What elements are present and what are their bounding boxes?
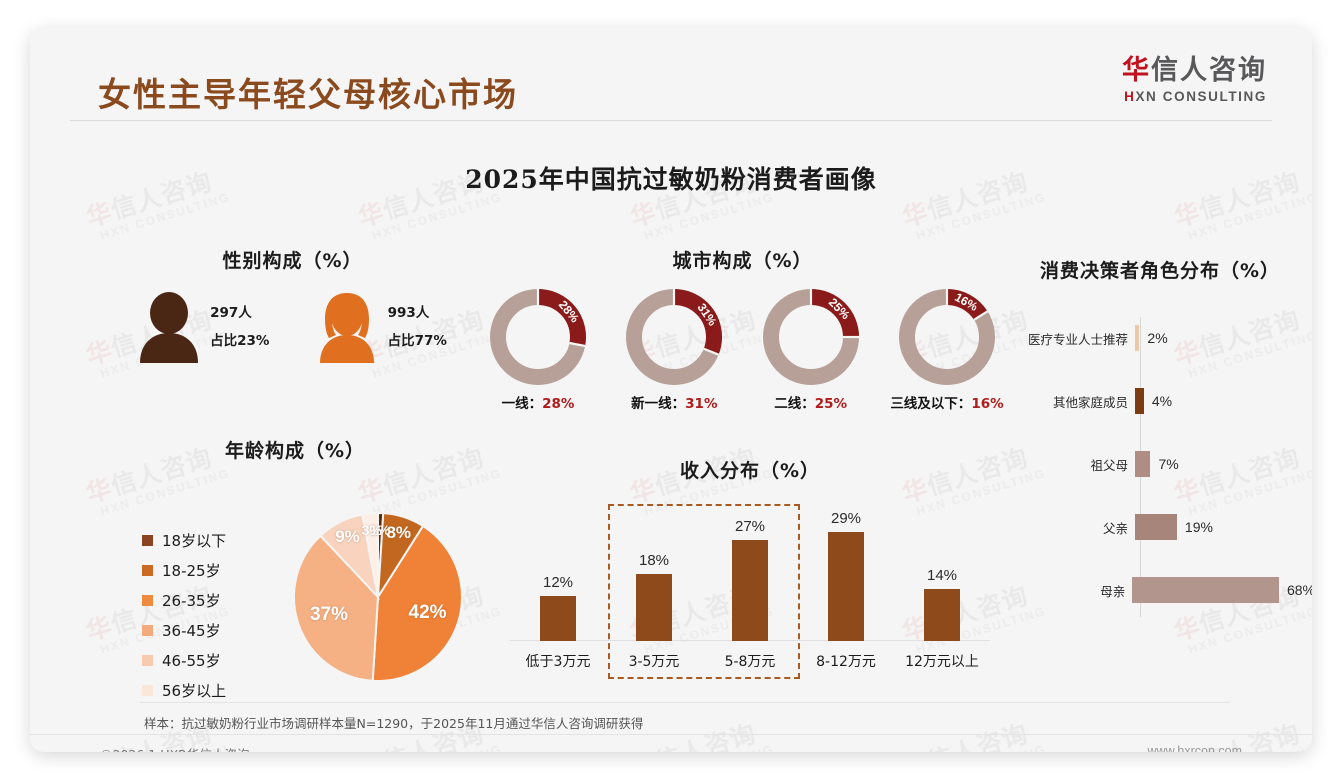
- age-legend-swatch: [142, 655, 153, 666]
- age-pie-value-label: 37%: [310, 604, 348, 626]
- copyright-text: ©2026.1 HXR华信人咨询: [100, 744, 249, 752]
- watermark-logo: 华信人咨询HXN CONSULTING: [625, 710, 776, 752]
- age-legend-label: 18-25岁: [162, 560, 221, 581]
- gender-share: 占比77%: [388, 327, 447, 355]
- city-donut-item: 25%二线：25%: [751, 289, 871, 412]
- age-legend-swatch: [142, 565, 153, 576]
- sample-note: 样本：抗过敏奶粉行业市场调研样本量N=1290，于2025年11月通过华信人咨询…: [144, 713, 643, 732]
- age-chart-body: 18岁以下18-25岁26-35岁36-45岁46-55岁56岁以上 1%8%4…: [120, 473, 470, 688]
- age-legend-item: 46-55岁: [142, 645, 226, 675]
- age-legend-label: 56岁以上: [162, 680, 226, 701]
- income-bar: [732, 540, 768, 641]
- company-logo: 华信人咨询 HXN CONSULTING: [1122, 56, 1267, 104]
- income-bar: [636, 574, 672, 642]
- income-category-label: 3-5万元: [608, 651, 700, 671]
- city-donut-item: 16%三线及以下：16%: [887, 289, 1007, 412]
- gender-items: 297人占比23%993人占比77%: [115, 291, 470, 363]
- dm-bar: [1135, 514, 1177, 540]
- age-legend: 18岁以下18-25岁26-35岁36-45岁46-55岁56岁以上: [142, 525, 226, 705]
- income-column: 14%: [896, 567, 988, 642]
- age-pie-value-label: 9%: [335, 527, 360, 547]
- gender-stats: 993人占比77%: [388, 299, 447, 356]
- dm-value-label: 7%: [1150, 456, 1178, 472]
- dm-value-label: 19%: [1177, 519, 1213, 535]
- donut-caption: 二线：25%: [751, 392, 871, 412]
- income-value-label: 18%: [608, 552, 700, 569]
- age-legend-swatch: [142, 685, 153, 696]
- decision-maker-section-title: 消费决策者角色分布（%）: [1005, 256, 1312, 283]
- dm-row: 母亲68%: [1005, 577, 1312, 603]
- gender-stats: 297人占比23%: [210, 299, 269, 356]
- header-divider: [70, 120, 1272, 121]
- gender-item: 297人占比23%: [138, 291, 269, 363]
- donut-caption-value: 25%: [815, 396, 847, 412]
- gender-composition-panel: 性别构成（%） 297人占比23%993人占比77%: [115, 246, 470, 363]
- gender-section-title: 性别构成（%）: [115, 246, 470, 273]
- gender-count: 297人: [210, 299, 269, 327]
- donut-caption-label: 一线：: [502, 396, 543, 412]
- gender-item: 993人占比77%: [316, 291, 447, 363]
- dm-bar: [1135, 388, 1144, 414]
- age-legend-label: 36-45岁: [162, 620, 221, 641]
- age-legend-swatch: [142, 535, 153, 546]
- age-legend-item: 18岁以下: [142, 525, 226, 555]
- donut-gauge: 31%: [626, 289, 722, 385]
- logo-rest-chars: 信人咨询: [1151, 55, 1267, 86]
- infographic-card: 华信人咨询HXN CONSULTING华信人咨询HXN CONSULTING华信…: [30, 28, 1312, 752]
- decision-maker-bar-chart: 医疗专业人士推荐2%其他家庭成员4%祖父母7%父亲19%母亲68%: [1005, 309, 1312, 629]
- donut-caption: 新一线：31%: [614, 392, 734, 412]
- income-column: 27%: [704, 518, 796, 641]
- income-value-label: 27%: [704, 518, 796, 535]
- donut-caption-label: 三线及以下：: [890, 396, 971, 412]
- dm-row: 祖父母7%: [1005, 451, 1312, 477]
- income-distribution-panel: 收入分布（%） 12%低于3万元18%3-5万元27%5-8万元29%8-12万…: [500, 456, 1000, 681]
- dm-value-label: 68%: [1279, 582, 1312, 598]
- income-category-label: 8-12万元: [800, 651, 892, 671]
- city-donut-item: 28%一线：28%: [478, 289, 598, 412]
- logo-en-rest: XN CONSULTING: [1135, 89, 1267, 104]
- dm-category-label: 祖父母: [1005, 455, 1135, 474]
- age-legend-item: 18-25岁: [142, 555, 226, 585]
- gender-count: 993人: [388, 299, 447, 327]
- age-pie-value-label: 42%: [409, 602, 447, 624]
- age-legend-label: 18岁以下: [162, 530, 226, 551]
- age-legend-item: 36-45岁: [142, 615, 226, 645]
- dm-bar: [1135, 451, 1150, 477]
- decision-maker-panel: 消费决策者角色分布（%） 医疗专业人士推荐2%其他家庭成员4%祖父母7%父亲19…: [1005, 256, 1312, 629]
- donut-gauge: 28%: [490, 289, 586, 385]
- income-bar: [540, 596, 576, 641]
- age-pie-value-label: 3%: [362, 522, 382, 538]
- age-legend-item: 56岁以上: [142, 675, 226, 705]
- dm-value-label: 2%: [1139, 330, 1167, 346]
- income-section-title: 收入分布（%）: [500, 456, 1000, 483]
- city-donut-item: 31%新一线：31%: [614, 289, 734, 412]
- income-value-label: 14%: [896, 567, 988, 584]
- donut-gauge: 16%: [899, 289, 995, 385]
- header: 女性主导年轻父母核心市场 华信人咨询 HXN CONSULTING: [30, 28, 1312, 120]
- watermark-logo: 华信人咨询HXN CONSULTING: [897, 710, 1048, 752]
- female-silhouette-icon: [316, 291, 378, 363]
- income-bar: [924, 589, 960, 642]
- donut-caption-label: 二线：: [774, 396, 815, 412]
- age-legend-item: 26-35岁: [142, 585, 226, 615]
- income-value-label: 29%: [800, 510, 892, 527]
- age-legend-swatch: [142, 595, 153, 606]
- dm-category-label: 母亲: [1005, 581, 1132, 600]
- age-pie-value-label: 8%: [386, 523, 411, 543]
- city-section-title: 城市构成（%）: [470, 246, 1015, 273]
- income-category-label: 5-8万元: [704, 651, 796, 671]
- dm-value-label: 4%: [1144, 393, 1172, 409]
- dm-row: 其他家庭成员4%: [1005, 388, 1312, 414]
- donut-caption: 一线：28%: [478, 392, 598, 412]
- income-column: 29%: [800, 510, 892, 641]
- age-legend-label: 26-35岁: [162, 590, 221, 611]
- donut-caption-label: 新一线：: [631, 396, 685, 412]
- subtitle: 2025年中国抗过敏奶粉消费者画像: [30, 160, 1312, 196]
- dm-row: 父亲19%: [1005, 514, 1312, 540]
- logo-en-accent: H: [1124, 89, 1135, 104]
- dm-row: 医疗专业人士推荐2%: [1005, 325, 1312, 351]
- income-bar: [828, 532, 864, 641]
- city-composition-panel: 城市构成（%） 28%一线：28%31%新一线：31%25%二线：25%16%三…: [470, 246, 1015, 412]
- note-divider: [140, 702, 1230, 703]
- logo-chinese-text: 华信人咨询: [1122, 56, 1267, 86]
- donut-caption-value: 28%: [542, 396, 574, 412]
- male-silhouette-icon: [138, 291, 200, 363]
- footer-divider: [30, 734, 1312, 735]
- age-legend-label: 46-55岁: [162, 650, 221, 671]
- age-composition-panel: 年龄构成（%） 18岁以下18-25岁26-35岁36-45岁46-55岁56岁…: [120, 436, 470, 688]
- age-legend-swatch: [142, 625, 153, 636]
- dm-bar: [1132, 577, 1279, 603]
- income-column: 18%: [608, 552, 700, 642]
- dm-category-label: 其他家庭成员: [1005, 392, 1135, 411]
- income-bar-chart: 12%低于3万元18%3-5万元27%5-8万元29%8-12万元14%12万元…: [500, 491, 1000, 681]
- dm-category-label: 父亲: [1005, 518, 1135, 537]
- income-value-label: 12%: [512, 574, 604, 591]
- gender-share: 占比23%: [210, 327, 269, 355]
- donut-caption: 三线及以下：16%: [887, 392, 1007, 412]
- donut-caption-value: 16%: [971, 396, 1003, 412]
- logo-english-text: HXN CONSULTING: [1122, 89, 1267, 104]
- donut-gauge: 25%: [763, 289, 859, 385]
- page-title: 女性主导年轻父母核心市场: [98, 68, 518, 116]
- dm-category-label: 医疗专业人士推荐: [1005, 329, 1135, 348]
- logo-accent-char: 华: [1122, 55, 1151, 86]
- city-donut-row: 28%一线：28%31%新一线：31%25%二线：25%16%三线及以下：16%: [470, 289, 1015, 412]
- age-pie-chart: 1%8%42%37%9%3%: [292, 511, 464, 683]
- income-category-label: 低于3万元: [512, 651, 604, 671]
- age-section-title: 年龄构成（%）: [120, 436, 470, 463]
- donut-caption-value: 31%: [685, 396, 717, 412]
- income-column: 12%: [512, 574, 604, 641]
- website-text: www.hxrcon.com: [1148, 744, 1242, 752]
- income-category-label: 12万元以上: [896, 651, 988, 671]
